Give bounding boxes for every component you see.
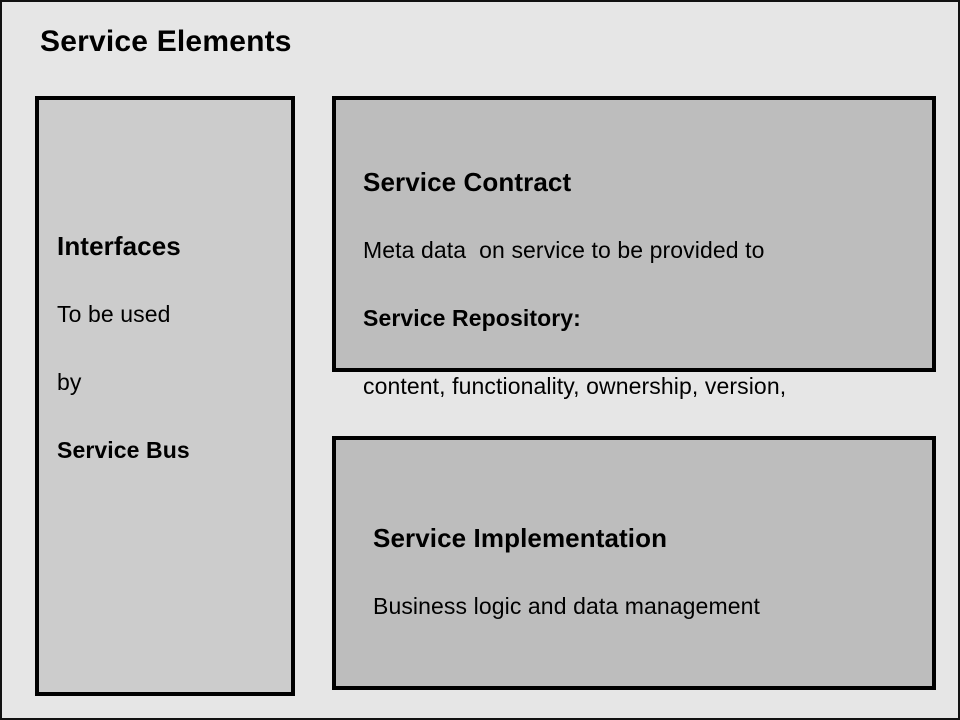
diagram-canvas: Service Elements Interfaces To be used b… <box>0 0 960 720</box>
service-contract-line-1: Meta data on service to be provided to <box>363 234 786 266</box>
service-implementation-heading: Service Implementation <box>373 522 760 554</box>
service-contract-box[interactable]: Service Contract Meta data on service to… <box>332 96 936 372</box>
service-contract-line-3: content, functionality, ownership, versi… <box>363 370 786 402</box>
page-title: Service Elements <box>40 24 292 60</box>
service-implementation-box[interactable]: Service Implementation Business logic an… <box>332 436 936 690</box>
interfaces-heading: Interfaces <box>57 230 190 262</box>
service-contract-heading: Service Contract <box>363 166 786 198</box>
service-contract-line-2: Service Repository: <box>363 302 786 334</box>
service-implementation-text-block: Service Implementation Business logic an… <box>373 486 760 658</box>
service-implementation-line-1: Business logic and data management <box>373 590 760 622</box>
interfaces-line-3: Service Bus <box>57 434 190 466</box>
interfaces-line-2: by <box>57 366 190 398</box>
interfaces-line-1: To be used <box>57 298 190 330</box>
interfaces-text-block: Interfaces To be used by Service Bus <box>57 194 190 502</box>
